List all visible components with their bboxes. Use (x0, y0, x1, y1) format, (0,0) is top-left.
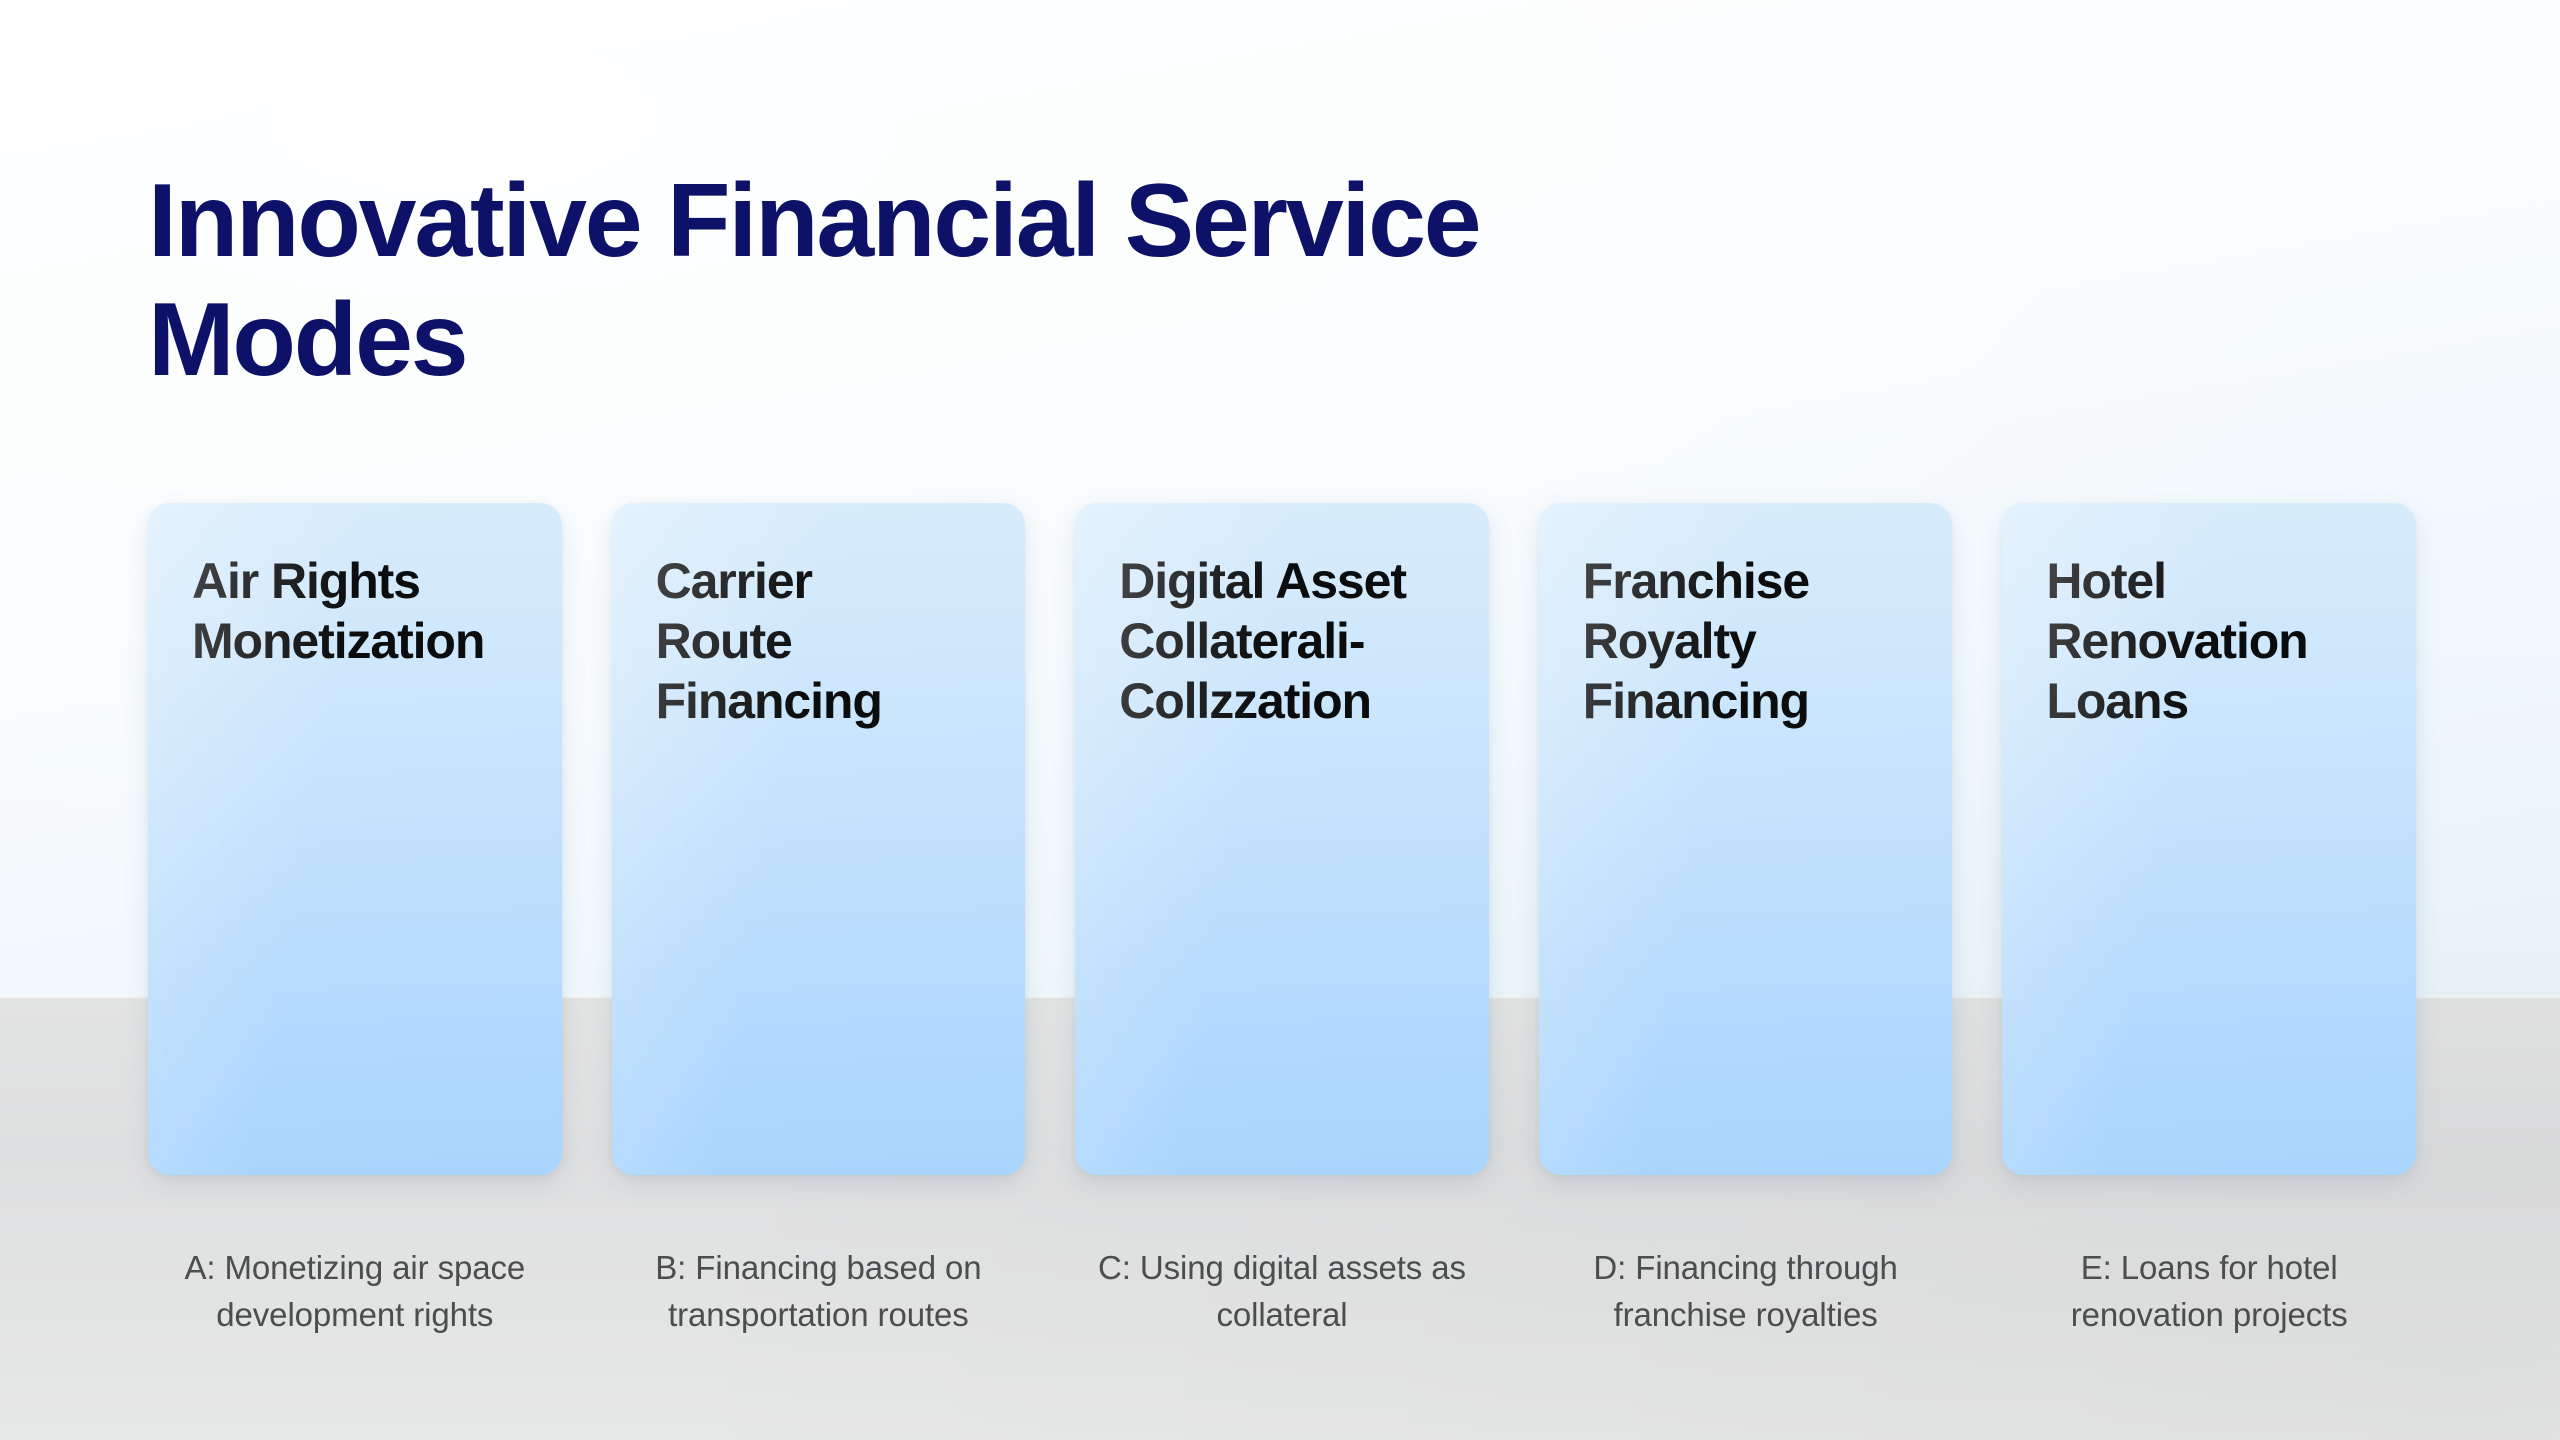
card-hotel-renovation-loans[interactable]: Hotel Renovation Loans (2002, 503, 2416, 1175)
card-title: Digital Asset Collaterali- Collzzation (1119, 551, 1463, 731)
card-title: Hotel Renovation Loans (2046, 551, 2390, 731)
page-title: Innovative Financial Service Modes (148, 162, 2108, 401)
card-title: Air Rights Monetization (192, 551, 536, 671)
card-air-rights-monetization[interactable]: Air Rights Monetization (148, 503, 562, 1175)
card-digital-asset-collateralization[interactable]: Digital Asset Collaterali- Collzzation (1075, 503, 1489, 1175)
card-title: Carrier Route Financing (656, 551, 1000, 731)
caption-e: E: Loans for hotel renovation projects (2002, 1245, 2416, 1339)
caption-row: A: Monetizing air space development righ… (148, 1245, 2416, 1339)
caption-c: C: Using digital assets as collateral (1075, 1245, 1489, 1339)
card-row: Air Rights Monetization Carrier Route Fi… (148, 503, 2416, 1175)
slide-canvas: Innovative Financial Service Modes Air R… (0, 0, 2560, 1440)
caption-a: A: Monetizing air space development righ… (148, 1245, 562, 1339)
caption-d: D: Financing through franchise royalties (1539, 1245, 1953, 1339)
caption-b: B: Financing based on transportation rou… (612, 1245, 1026, 1339)
card-carrier-route-financing[interactable]: Carrier Route Financing (612, 503, 1026, 1175)
card-title: Franchise Royalty Financing (1583, 551, 1927, 731)
card-franchise-royalty-financing[interactable]: Franchise Royalty Financing (1539, 503, 1953, 1175)
